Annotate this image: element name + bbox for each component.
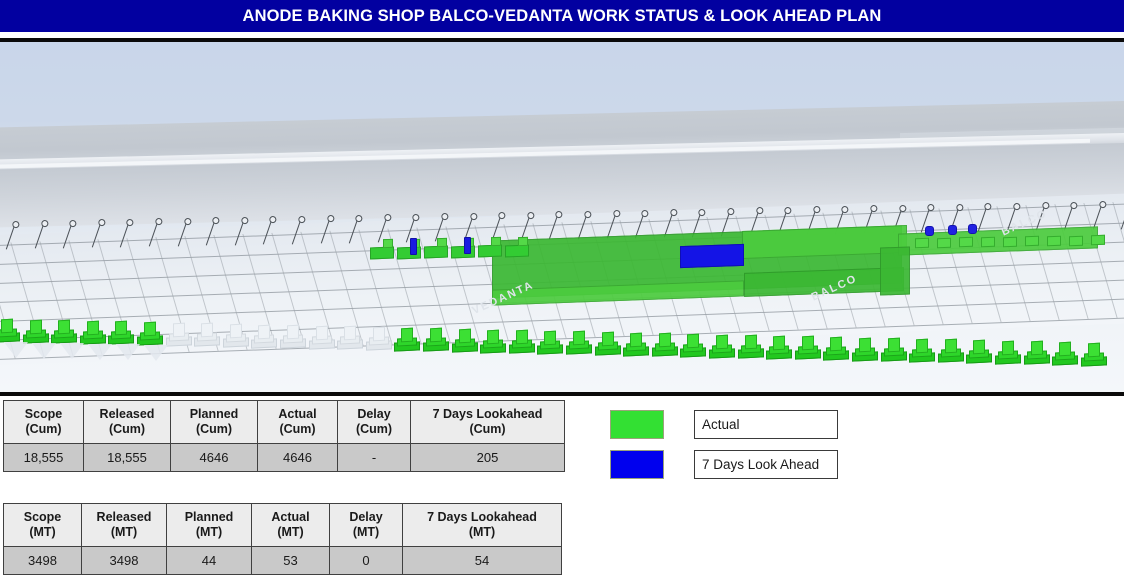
footing-column — [630, 332, 642, 347]
footing-column — [1059, 342, 1071, 357]
plinth-cap — [959, 237, 973, 248]
footing-completed — [566, 328, 592, 354]
lookahead-pin — [464, 237, 471, 254]
table-row: 3498 3498 44 53 0 54 — [4, 547, 562, 575]
footing-completed — [966, 337, 992, 363]
footing-column — [945, 339, 957, 354]
footing-pending — [280, 322, 306, 348]
footing-completed — [509, 327, 535, 353]
footing-pending — [223, 321, 249, 347]
lookahead-block-main — [680, 244, 744, 268]
footing-completed — [108, 318, 134, 344]
plinth-cap — [1091, 235, 1105, 246]
footing-completed — [709, 332, 735, 358]
legend-item-lookahead: 7 Days Look Ahead — [610, 450, 838, 479]
cell-delay: - — [338, 444, 411, 472]
pending-foundation-ghost — [32, 343, 56, 359]
table-row: 18,555 18,555 4646 4646 - 205 — [4, 444, 565, 472]
column-header-delay: Delay (Cum) — [338, 401, 411, 444]
footing-column — [487, 329, 499, 344]
cell-actual: 4646 — [258, 444, 338, 472]
footing-column — [258, 324, 270, 339]
column-header-released: Released (MT) — [82, 504, 167, 547]
footing-column — [830, 337, 842, 352]
footing-column — [602, 332, 614, 347]
footing-column — [201, 323, 213, 338]
cell-released: 3498 — [82, 547, 167, 575]
plinth-base — [505, 245, 529, 258]
plinth-base — [424, 246, 448, 259]
footing-pending — [366, 324, 392, 350]
completed-slab — [880, 246, 910, 295]
footing-completed — [452, 326, 478, 352]
cell-delay: 0 — [330, 547, 403, 575]
footing-completed — [766, 333, 792, 359]
footing-column — [115, 321, 127, 336]
table-header-row: Scope (MT) Released (MT) Planned (MT) Ac… — [4, 504, 562, 547]
footing-completed — [1081, 340, 1107, 366]
footing-column — [716, 334, 728, 349]
column-header-lookahead: 7 Days Lookahead (MT) — [403, 504, 562, 547]
footing-column — [544, 330, 556, 345]
footing-column — [344, 326, 356, 341]
footing-completed — [823, 334, 849, 360]
plinth-cap — [518, 237, 528, 246]
footing-column — [287, 325, 299, 340]
footing-completed — [51, 317, 77, 343]
footing-column — [173, 322, 185, 337]
footing-completed — [80, 318, 106, 344]
plinth-cap — [383, 239, 393, 248]
footing-completed — [423, 325, 449, 351]
footing-completed — [394, 325, 420, 351]
pending-foundation-ghost — [116, 344, 140, 360]
lookahead-marker — [948, 225, 957, 235]
lookahead-pin — [410, 238, 417, 255]
legend-label-actual: Actual — [694, 410, 838, 439]
column-header-actual: Actual (MT) — [252, 504, 330, 547]
footing-completed — [0, 316, 20, 342]
page-title-bar: ANODE BAKING SHOP BALCO-VEDANTA WORK STA… — [0, 0, 1124, 32]
cell-planned: 44 — [167, 547, 252, 575]
footing-column — [916, 339, 928, 354]
footing-completed — [795, 333, 821, 359]
column-header-scope: Scope (Cum) — [4, 401, 84, 444]
footing-column — [802, 336, 814, 351]
footing-pending — [194, 320, 220, 346]
footing-completed — [852, 335, 878, 361]
footing-completed — [537, 328, 563, 354]
legend: Actual 7 Days Look Ahead — [610, 410, 838, 490]
plinth-cap — [981, 237, 995, 248]
plinth-cap — [937, 237, 951, 248]
cell-actual: 53 — [252, 547, 330, 575]
cumulative-progress-table: Scope (Cum) Released (Cum) Planned (Cum)… — [3, 400, 565, 472]
footing-column — [516, 330, 528, 345]
footing-completed — [995, 338, 1021, 364]
footing-column — [973, 340, 985, 355]
footing-completed — [480, 327, 506, 353]
column-header-lookahead: 7 Days Lookahead (Cum) — [411, 401, 565, 444]
footing-column — [58, 320, 70, 335]
cell-scope: 3498 — [4, 547, 82, 575]
table-header-row: Scope (Cum) Released (Cum) Planned (Cum)… — [4, 401, 565, 444]
footing-completed — [623, 330, 649, 356]
footing-column — [659, 333, 671, 348]
footing-column — [1002, 340, 1014, 355]
plinth-base — [370, 247, 394, 260]
footing-completed — [137, 319, 163, 345]
footing-column — [773, 335, 785, 350]
cell-lookahead: 54 — [403, 547, 562, 575]
footing-column — [430, 328, 442, 343]
plinth-cap — [1069, 235, 1083, 246]
cell-released: 18,555 — [84, 444, 171, 472]
footing-column — [1031, 341, 1043, 356]
footing-completed — [1024, 338, 1050, 364]
lookahead-marker — [925, 226, 934, 236]
footing-pending — [251, 322, 277, 348]
footing-column — [87, 321, 99, 336]
footing-column — [1088, 342, 1100, 357]
footing-column — [316, 325, 328, 340]
footing-completed — [881, 335, 907, 361]
footing-completed — [738, 332, 764, 358]
plinth-cap — [437, 238, 447, 247]
footing-pending — [309, 323, 335, 349]
footing-completed — [909, 336, 935, 362]
footing-completed — [1052, 339, 1078, 365]
footing-column — [745, 335, 757, 350]
footing-pending — [337, 323, 363, 349]
column-header-scope: Scope (MT) — [4, 504, 82, 547]
model-viewport[interactable]: BALCO VEDANTA BALCO — [0, 38, 1124, 396]
column-header-planned: Planned (Cum) — [171, 401, 258, 444]
pending-foundation-ghost — [60, 343, 84, 359]
footing-column — [1, 319, 13, 334]
footing-column — [144, 322, 156, 337]
plinth-cap — [491, 237, 501, 246]
plinth-base — [397, 246, 421, 259]
footing-column — [30, 319, 42, 334]
footing-column — [373, 327, 385, 342]
column-header-planned: Planned (MT) — [167, 504, 252, 547]
pending-foundation-ghost — [144, 345, 168, 361]
page-title: ANODE BAKING SHOP BALCO-VEDANTA WORK STA… — [243, 7, 882, 26]
footing-column — [459, 329, 471, 344]
pending-foundation-ghost — [88, 344, 112, 360]
cell-planned: 4646 — [171, 444, 258, 472]
footing-column — [401, 327, 413, 342]
footing-completed — [652, 330, 678, 356]
legend-swatch-lookahead — [610, 450, 664, 479]
cell-lookahead: 205 — [411, 444, 565, 472]
pending-foundation-ghost — [4, 342, 28, 358]
plinth-cap — [1025, 236, 1039, 247]
plinth-base — [478, 245, 502, 258]
footing-completed — [23, 317, 49, 343]
footing-completed — [938, 336, 964, 362]
footing-completed — [680, 331, 706, 357]
lookahead-marker — [968, 224, 977, 234]
footing-column — [687, 334, 699, 349]
column-header-actual: Actual (Cum) — [258, 401, 338, 444]
plinth-cap — [1047, 236, 1061, 247]
footing-column — [230, 324, 242, 339]
legend-item-actual: Actual — [610, 410, 838, 439]
model-stage[interactable]: BALCO VEDANTA BALCO — [0, 42, 1124, 392]
footing-pending — [166, 320, 192, 346]
plinth-cap — [915, 238, 929, 249]
column-header-released: Released (Cum) — [84, 401, 171, 444]
footing-column — [888, 338, 900, 353]
legend-swatch-actual — [610, 410, 664, 439]
footing-completed — [595, 329, 621, 355]
plinth-base — [451, 245, 475, 258]
footing-column — [573, 331, 585, 346]
legend-label-lookahead: 7 Days Look Ahead — [694, 450, 838, 479]
tonnage-progress-table: Scope (MT) Released (MT) Planned (MT) Ac… — [3, 503, 562, 575]
footing-column — [859, 337, 871, 352]
cell-scope: 18,555 — [4, 444, 84, 472]
column-header-delay: Delay (MT) — [330, 504, 403, 547]
